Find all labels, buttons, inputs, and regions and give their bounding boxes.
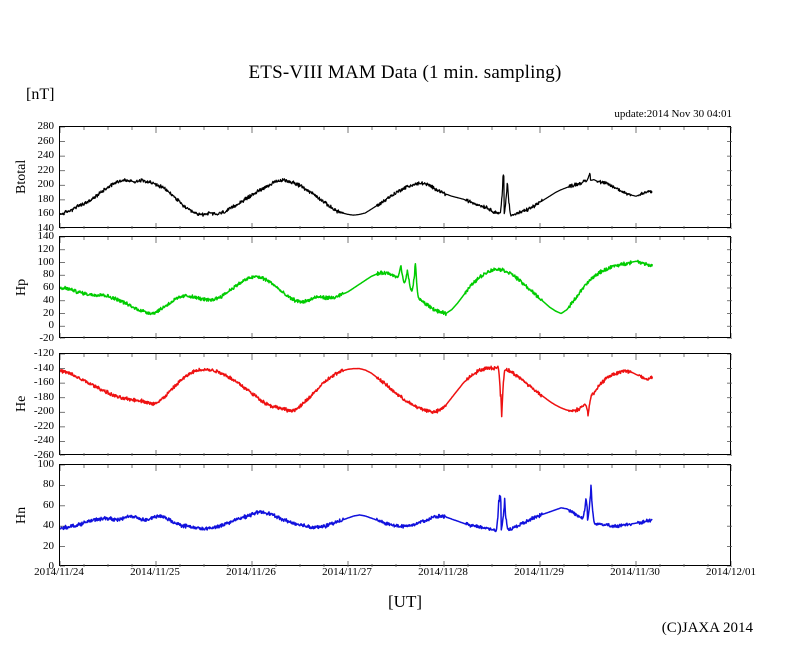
- x-tick-label: 2014/11/24: [19, 566, 99, 578]
- trace-hn: [60, 465, 732, 567]
- x-tick-label: 2014/11/29: [499, 566, 579, 578]
- trace-hp: [60, 237, 732, 339]
- unit-label: [nT]: [26, 86, 54, 104]
- copyright-notice: (C)JAXA 2014: [662, 620, 753, 637]
- x-tick-label: 2014/11/30: [595, 566, 675, 578]
- y-tick-label: 20: [20, 540, 54, 552]
- y-tick-label: -120: [20, 347, 54, 359]
- x-tick-label: 2014/11/26: [211, 566, 291, 578]
- trace-he: [60, 354, 732, 456]
- plot-panel-he: [59, 353, 731, 455]
- chart-canvas: ETS-VIII MAM Data (1 min. sampling) [nT]…: [0, 0, 810, 655]
- y-tick-label: 100: [20, 458, 54, 470]
- y-tick-label: 0: [20, 319, 54, 331]
- x-tick-label: 2014/11/27: [307, 566, 387, 578]
- y-axis-label-hp: Hp: [14, 261, 30, 313]
- y-axis-label-btotal: Btotal: [14, 151, 30, 203]
- y-tick-label: -240: [20, 434, 54, 446]
- y-axis-label-hn: Hn: [14, 489, 30, 541]
- y-tick-label: 120: [20, 243, 54, 255]
- y-tick-label: 140: [20, 230, 54, 242]
- y-tick-label: 280: [20, 120, 54, 132]
- trace-btotal: [60, 127, 732, 229]
- x-tick-label: 2014/12/01: [691, 566, 771, 578]
- page-title: ETS-VIII MAM Data (1 min. sampling): [0, 62, 810, 84]
- plot-panel-hn: [59, 464, 731, 566]
- y-axis-label-he: He: [14, 378, 30, 430]
- plot-panel-btotal: [59, 126, 731, 228]
- y-tick-label: 260: [20, 135, 54, 147]
- y-tick-label: -140: [20, 362, 54, 374]
- y-tick-label: -20: [20, 332, 54, 344]
- update-timestamp: update:2014 Nov 30 04:01: [614, 108, 732, 120]
- x-tick-label: 2014/11/25: [115, 566, 195, 578]
- y-tick-label: 160: [20, 207, 54, 219]
- x-axis-title: [UT]: [0, 592, 810, 612]
- plot-panel-hp: [59, 236, 731, 338]
- x-tick-label: 2014/11/28: [403, 566, 483, 578]
